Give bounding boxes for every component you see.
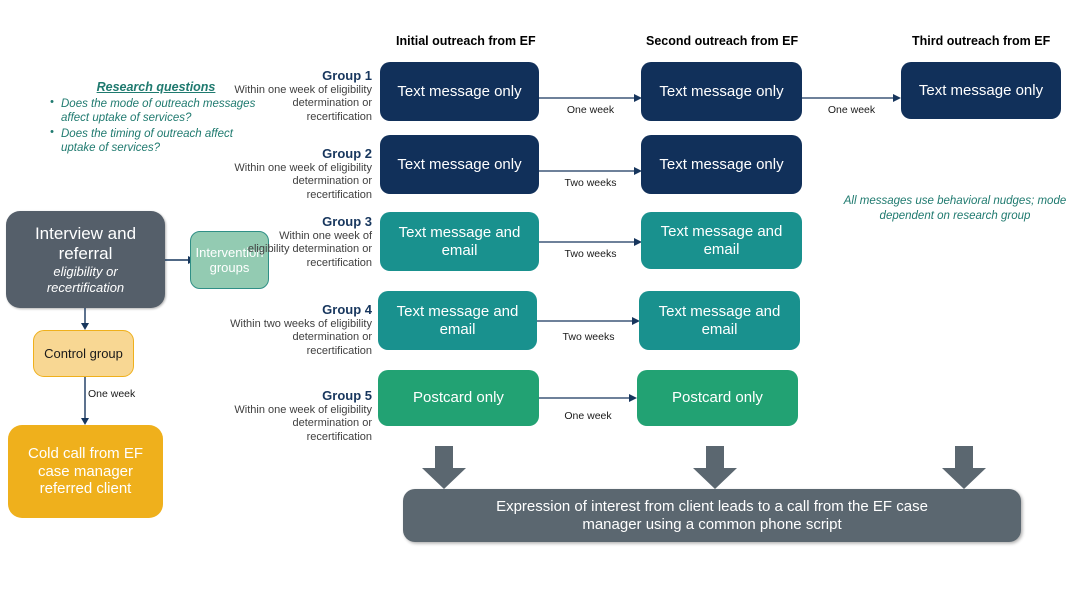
- message-text: Text message and email: [380, 224, 539, 259]
- outcome-line-1: Expression of interest from client leads…: [496, 498, 928, 516]
- group-description: Within one week of eligibility determina…: [228, 162, 372, 202]
- interview-line-2: referral: [59, 244, 113, 264]
- group-description: Within one week of eligibility determina…: [228, 404, 372, 444]
- group-description: Within two weeks of eligibility determin…: [228, 318, 372, 358]
- group-name: Group 4: [228, 302, 372, 317]
- message-text: Postcard only: [413, 389, 504, 407]
- group-name: Group 1: [228, 68, 372, 83]
- connector-label-g5-1: One week: [539, 410, 637, 422]
- message-text: Text message and email: [641, 223, 802, 258]
- message-box-g5-second[interactable]: Postcard only: [637, 370, 798, 426]
- group-name: Group 3: [246, 214, 372, 229]
- cold-call-line-1: Cold call from EF: [28, 445, 143, 463]
- down-arrow-third: [941, 446, 987, 490]
- message-text: Postcard only: [672, 389, 763, 407]
- message-text: Text message and email: [639, 303, 800, 338]
- group-label-block-4: Group 4 Within two weeks of eligibility …: [228, 302, 372, 358]
- message-box-g2-initial[interactable]: Text message only: [380, 135, 539, 194]
- cold-call-line-3: referred client: [40, 480, 132, 498]
- down-arrow-second: [692, 446, 738, 490]
- group-label-block-3: Group 3 Within one week of eligibility d…: [246, 214, 372, 270]
- message-box-g2-second[interactable]: Text message only: [641, 135, 802, 194]
- message-box-g1-second[interactable]: Text message only: [641, 62, 802, 121]
- arrow-control-to-cold-call: [78, 377, 92, 425]
- message-text: Text message only: [659, 156, 783, 174]
- connector-label-g1-2: One week: [802, 104, 901, 116]
- arrow-interview-to-control: [78, 308, 92, 330]
- group-description: Within one week of eligibility determina…: [246, 230, 372, 270]
- outcome-summary-box[interactable]: Expression of interest from client leads…: [403, 489, 1021, 542]
- message-text: Text message only: [397, 83, 521, 101]
- arrow-g4-1: [537, 315, 640, 327]
- interview-and-referral-box[interactable]: Interview and referral eligibility or re…: [6, 211, 165, 308]
- message-box-g1-initial[interactable]: Text message only: [380, 62, 539, 121]
- group-label-block-2: Group 2 Within one week of eligibility d…: [228, 146, 372, 202]
- outcome-line-2: manager using a common phone script: [582, 516, 841, 534]
- group-name: Group 5: [228, 388, 372, 403]
- interview-line-1: Interview and: [35, 224, 136, 244]
- message-box-g3-second[interactable]: Text message and email: [641, 212, 802, 269]
- interview-sub-1: eligibility or: [53, 264, 117, 279]
- group-name: Group 2: [228, 146, 372, 161]
- control-group-box[interactable]: Control group: [33, 330, 134, 377]
- message-box-g5-initial[interactable]: Postcard only: [378, 370, 539, 426]
- group-label-block-5: Group 5 Within one week of eligibility d…: [228, 388, 372, 444]
- message-text: Text message and email: [378, 303, 537, 338]
- arrow-g1-1: [539, 92, 642, 104]
- message-box-g3-initial[interactable]: Text message and email: [380, 212, 539, 271]
- message-box-g4-initial[interactable]: Text message and email: [378, 291, 537, 350]
- arrow-g2-1: [539, 165, 642, 177]
- message-box-g1-third[interactable]: Text message only: [901, 62, 1061, 119]
- group-label-block-1: Group 1 Within one week of eligibility d…: [228, 68, 372, 124]
- control-arrow-label: One week: [88, 388, 135, 400]
- behavioral-nudges-note: All messages use behavioral nudges; mode…: [830, 194, 1080, 224]
- message-text: Text message only: [919, 82, 1043, 100]
- control-group-label: Control group: [44, 346, 123, 361]
- column-header-third: Third outreach from EF: [912, 34, 1050, 48]
- interview-sub-2: recertification: [47, 280, 124, 295]
- message-text: Text message only: [397, 156, 521, 174]
- arrow-g1-2: [802, 92, 901, 104]
- arrow-g3-1: [539, 236, 642, 248]
- message-text: Text message only: [659, 83, 783, 101]
- message-box-g4-second[interactable]: Text message and email: [639, 291, 800, 350]
- column-header-initial: Initial outreach from EF: [396, 34, 536, 48]
- connector-label-g4-1: Two weeks: [537, 331, 640, 343]
- group-description: Within one week of eligibility determina…: [228, 84, 372, 124]
- connector-label-g1-1: One week: [539, 104, 642, 116]
- connector-label-g3-1: Two weeks: [539, 248, 642, 260]
- cold-call-line-2: case manager: [38, 463, 133, 481]
- connector-label-g2-1: Two weeks: [539, 177, 642, 189]
- intervention-line-2: groups: [210, 260, 250, 275]
- column-header-second: Second outreach from EF: [646, 34, 798, 48]
- arrow-g5-1: [539, 392, 637, 404]
- cold-call-box[interactable]: Cold call from EF case manager referred …: [8, 425, 163, 518]
- down-arrow-initial: [421, 446, 467, 490]
